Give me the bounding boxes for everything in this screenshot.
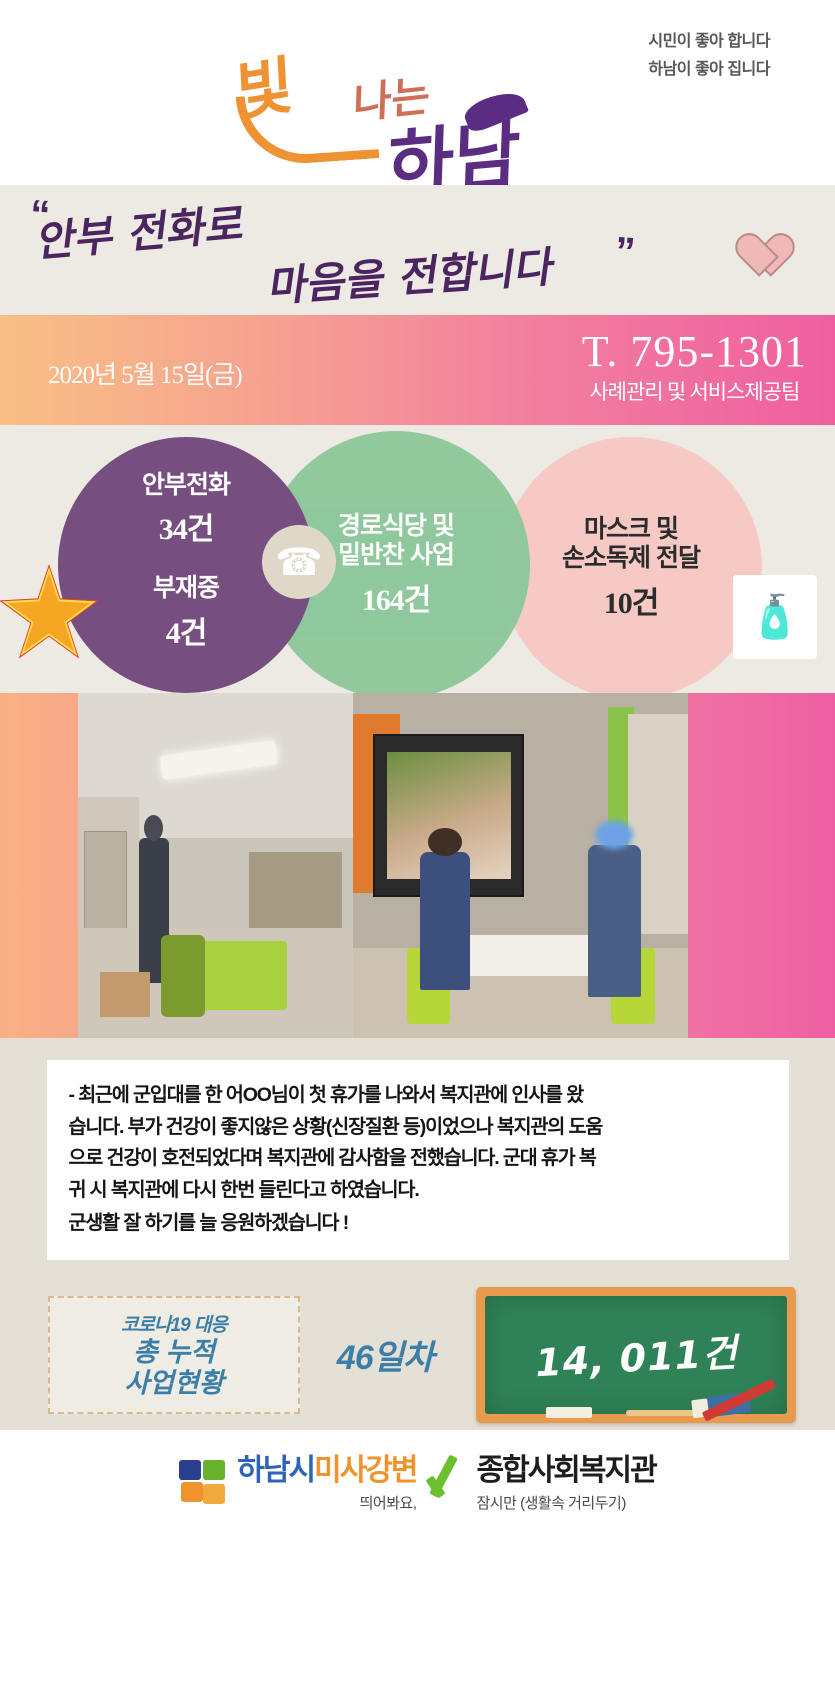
day-count: 46일차 — [300, 1330, 470, 1379]
photo2-person-right — [588, 845, 642, 997]
team-name: 사례관리 및 서비스제공팀 — [582, 376, 807, 406]
footer-sub-left: 띄어봐요, — [237, 1492, 416, 1513]
venn-group-missed: 부재중 4건 — [153, 574, 219, 652]
heart-icon — [729, 215, 775, 257]
green-check-icon — [425, 1456, 469, 1504]
contact-block: T. 795-1301 사례관리 및 서비스제공팀 — [582, 327, 807, 406]
photo-strip — [0, 693, 835, 1038]
testimonial-line-3: 으로 건강이 호전되었다며 복지관에 감사함을 전했습니다. 군대 휴가 복 — [69, 1143, 767, 1175]
venn-label-mask-line1: 마스크 및 — [584, 515, 678, 545]
footer-org-left: 하남시미사강변 띄어봐요, — [237, 1456, 416, 1513]
summary-small-label: 코로나19 대응 — [121, 1310, 227, 1337]
report-date: 2020년 5월 15일(금) — [48, 355, 242, 391]
venn-label-meal-line1: 경로식당 및 — [338, 512, 454, 542]
activity-photo-1 — [78, 693, 353, 1038]
quote-close-mark: ” — [613, 229, 636, 275]
quote-line-1: 안부 전화로 — [35, 189, 250, 269]
photo1-box — [100, 972, 150, 1017]
puzzle-piece-orange-1 — [181, 1482, 203, 1502]
puzzle-piece-green — [203, 1460, 225, 1480]
testimonial-line-5: 군생활 잘 하기를 늘 응원하겠습니다 ! — [69, 1208, 767, 1240]
cumulative-summary-bar: 코로나19 대응 총 누적 사업현황 46일차 14, 011건 — [0, 1280, 835, 1430]
poster-header: 빛 나는 하남 시민이 좋아 합니다 하남이 좋아 집니다 코로나19 대응 프… — [0, 0, 835, 185]
footer-org-right: 종합사회복지관 잠시만 (생활속 거리두기) — [477, 1456, 656, 1513]
tagline-line-1: 시민이 좋아 합니다 — [470, 28, 770, 56]
city-tagline: 시민이 좋아 합니다 하남이 좋아 집니다 — [470, 28, 770, 84]
chalk-tray-icon — [626, 1410, 696, 1416]
testimonial-line-1: - 최근에 군입대를 한 어OO님이 첫 휴가를 나와서 복지관에 인사를 왔 — [69, 1080, 767, 1112]
footer-org-part-1: 하남시 — [237, 1454, 314, 1487]
photo2-person-left — [420, 852, 470, 990]
testimonial-line-4: 귀 시 복지관에 다시 한번 들린다고 하였습니다. — [69, 1175, 767, 1207]
venn-count-call: 34건 — [142, 504, 230, 548]
chalkboard: 14, 011건 — [476, 1287, 796, 1423]
puzzle-piece-blue — [179, 1460, 201, 1480]
venn-label-meal-line2: 밑반찬 사업 — [338, 541, 454, 571]
venn-count-mask: 10건 — [604, 578, 659, 622]
venn-circle-mask-sanitizer: 마스크 및 손소독제 전달 10건 — [500, 437, 762, 693]
puzzle-logo-icon — [179, 1460, 231, 1508]
total-case-count: 14, 011건 — [533, 1322, 738, 1388]
venn-diagram: 마스크 및 손소독제 전달 10건 경로식당 및 밑반찬 사업 164건 안부전… — [0, 425, 835, 693]
summary-big-label-1: 총 누적 — [133, 1337, 215, 1369]
quote-banner: “ 안부 전화로 마음을 전합니다 ” — [0, 185, 835, 315]
hand-sanitizer-icon: 🧴 — [733, 575, 817, 659]
footer-org-part-3: 종합사회복지관 — [477, 1456, 656, 1486]
venn-count-missed: 4건 — [153, 608, 219, 652]
phone-ringing-icon: ☎ — [262, 525, 336, 599]
phone-number[interactable]: T. 795-1301 — [582, 327, 807, 378]
photo-row — [78, 693, 688, 1038]
summary-big-label-2: 사업현황 — [124, 1368, 223, 1400]
activity-photo-2 — [353, 693, 688, 1038]
footer-org-part-2: 미사강변 — [314, 1454, 416, 1487]
photo2-table — [454, 935, 601, 976]
summary-title-card: 코로나19 대응 총 누적 사업현황 — [48, 1296, 300, 1414]
quote-line-2: 마음을 전합니다 — [266, 233, 559, 315]
venn-label-missed: 부재중 — [153, 574, 219, 604]
venn-label-mask-line2: 손소독제 전달 — [562, 544, 700, 574]
venn-label-call: 안부전화 — [142, 471, 230, 501]
poster-page: 빛 나는 하남 시민이 좋아 합니다 하남이 좋아 집니다 코로나19 대응 프… — [0, 0, 835, 1699]
poster-footer: 하남시미사강변 띄어봐요, 종합사회복지관 잠시만 (생활속 거리두기) — [0, 1430, 835, 1540]
footer-logo-group: 하남시미사강변 띄어봐요, 종합사회복지관 잠시만 (생활속 거리두기) — [179, 1456, 655, 1513]
footer-sub-right: 잠시만 (생활속 거리두기) — [477, 1492, 656, 1513]
photo1-desk — [249, 852, 343, 928]
puzzle-piece-orange-2 — [203, 1484, 225, 1504]
testimonial-box: - 최근에 군입대를 한 어OO님이 첫 휴가를 나와서 복지관에 인사를 왔 … — [47, 1060, 789, 1260]
tagline-line-2: 하남이 좋아 집니다 — [470, 56, 770, 84]
chalk-stick-icon — [546, 1407, 592, 1418]
testimonial-section: - 최근에 군입대를 한 어OO님이 첫 휴가를 나와서 복지관에 인사를 왔 … — [0, 1038, 835, 1280]
venn-count-meal: 164건 — [362, 575, 431, 619]
footer-org-name-left: 하남시미사강변 — [237, 1456, 416, 1486]
date-phone-bar: 2020년 5월 15일(금) T. 795-1301 사례관리 및 서비스제공… — [0, 315, 835, 425]
venn-group-call: 안부전화 34건 — [142, 471, 230, 549]
testimonial-line-2: 습니다. 부가 건강이 좋지않은 상황(신장질환 등)이었으나 복지관의 도움 — [69, 1112, 767, 1144]
photo1-chair — [161, 935, 205, 1018]
logo-text-bich: 빛 — [234, 33, 295, 132]
